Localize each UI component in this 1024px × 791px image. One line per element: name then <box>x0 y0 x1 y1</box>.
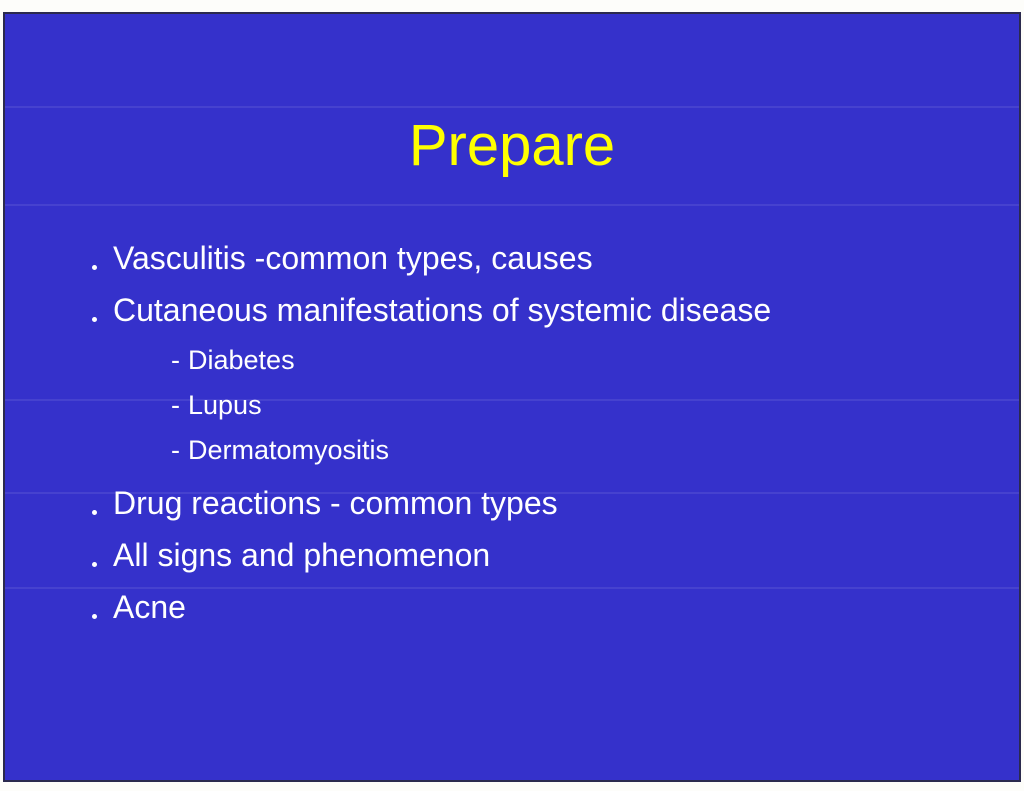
bullet-label: Cutaneous manifestations of systemic dis… <box>91 288 791 332</box>
list-item: All signs and phenomenon <box>85 533 945 577</box>
sub-list-item: -Diabetes <box>113 338 945 383</box>
dash-marker-icon: - <box>171 338 188 383</box>
slide-body: Vasculitis -common types, causes Cutaneo… <box>85 236 945 637</box>
bullet-dot-icon <box>92 317 97 322</box>
list-item: Vasculitis -common types, causes <box>85 236 945 280</box>
dash-marker-icon: - <box>171 383 188 428</box>
bullet-list: Vasculitis -common types, causes Cutaneo… <box>85 236 945 629</box>
sub-bullet-label: Lupus <box>188 390 262 420</box>
bullet-dot-icon <box>92 265 97 270</box>
list-item: Cutaneous manifestations of systemic dis… <box>85 288 945 473</box>
bullet-label: Acne <box>91 585 945 629</box>
dash-marker-icon: - <box>171 428 188 473</box>
slide-page: Prepare Vasculitis -common types, causes… <box>0 0 1024 791</box>
sub-bullet-label: Diabetes <box>188 345 295 375</box>
bullet-label: Drug reactions - common types <box>91 481 945 525</box>
slide-frame: Prepare Vasculitis -common types, causes… <box>3 12 1021 782</box>
sub-list-item: -Lupus <box>113 383 945 428</box>
bullet-dot-icon <box>92 614 97 619</box>
bullet-label: All signs and phenomenon <box>91 533 945 577</box>
list-item: Acne <box>85 585 945 629</box>
scan-band-2 <box>5 204 1019 206</box>
sub-list-item: -Dermatomyositis <box>113 428 945 473</box>
list-item: Drug reactions - common types <box>85 481 945 525</box>
scan-band-1 <box>5 106 1019 108</box>
bullet-label: Vasculitis -common types, causes <box>91 236 945 280</box>
bullet-dot-icon <box>92 562 97 567</box>
slide-title: Prepare <box>5 114 1019 178</box>
sub-bullet-label: Dermatomyositis <box>188 435 389 465</box>
sub-bullet-list: -Diabetes -Lupus -Dermatomyositis <box>113 338 945 473</box>
bullet-dot-icon <box>92 510 97 515</box>
